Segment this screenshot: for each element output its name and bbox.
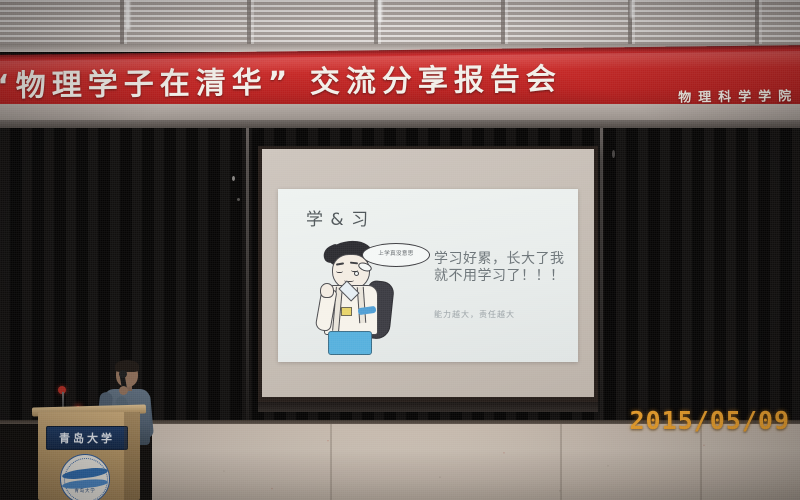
speech-bubble: 上学真没意思: [362, 243, 430, 267]
speech-bubble-text: 上学真没意思: [363, 249, 429, 257]
curtain-speck: [612, 150, 615, 158]
seal-text: 青岛大学: [61, 488, 109, 494]
podium: 青岛大学 青岛大学: [38, 412, 140, 500]
lecture-hall-photo: “物理学子在清华” 交流分享报告会 物理科学学院 学 & 习: [0, 0, 800, 500]
stage-seam: [330, 424, 332, 500]
stage-seam: [560, 424, 562, 500]
stage-seam: [700, 424, 702, 500]
slide-title: 学 & 习: [306, 205, 369, 230]
screen-bottom-bar: [258, 402, 598, 412]
speech-bubble-dot: [354, 271, 359, 276]
hand-shape: [320, 283, 334, 298]
slide-footer-text: 能力越大，责任越大: [434, 309, 515, 320]
ceiling-glint: [630, 0, 634, 18]
curtain-speck: [237, 198, 240, 201]
banner-subtitle: 物理科学学院: [678, 85, 798, 105]
ceiling-panels: [0, 0, 800, 52]
projection-screen: 学 & 习: [258, 146, 598, 404]
trousers-shape: [328, 331, 372, 355]
name-badge: [341, 307, 352, 316]
curtain-seam: [600, 128, 603, 428]
screen-surface: 学 & 习: [262, 149, 594, 397]
cartoon-student-illustration: 上学真没意思: [314, 241, 396, 353]
slide-body-text: 学习好累，长大了我就不用学习了！！！: [434, 251, 574, 285]
ceiling-glint: [126, 0, 130, 30]
podium-shading: [124, 412, 140, 500]
banner-main-title: “物理学子在清华” 交流分享报告会: [0, 52, 710, 105]
podium-plaque-text: 青岛大学: [47, 430, 127, 446]
ceiling-glint: [378, 0, 382, 22]
speaker-hand: [119, 386, 128, 395]
microphone-head-icon: [119, 370, 127, 378]
presentation-slide: 学 & 习: [278, 189, 578, 362]
university-seal-icon: 青岛大学: [60, 454, 110, 500]
curtain-seam: [246, 128, 249, 428]
speaker-hair: [115, 360, 139, 372]
eye-shape: [336, 268, 343, 273]
podium-plaque: 青岛大学: [46, 426, 128, 450]
curtain-speck: [232, 176, 235, 181]
camera-date-stamp: 2015/05/09: [629, 406, 790, 435]
